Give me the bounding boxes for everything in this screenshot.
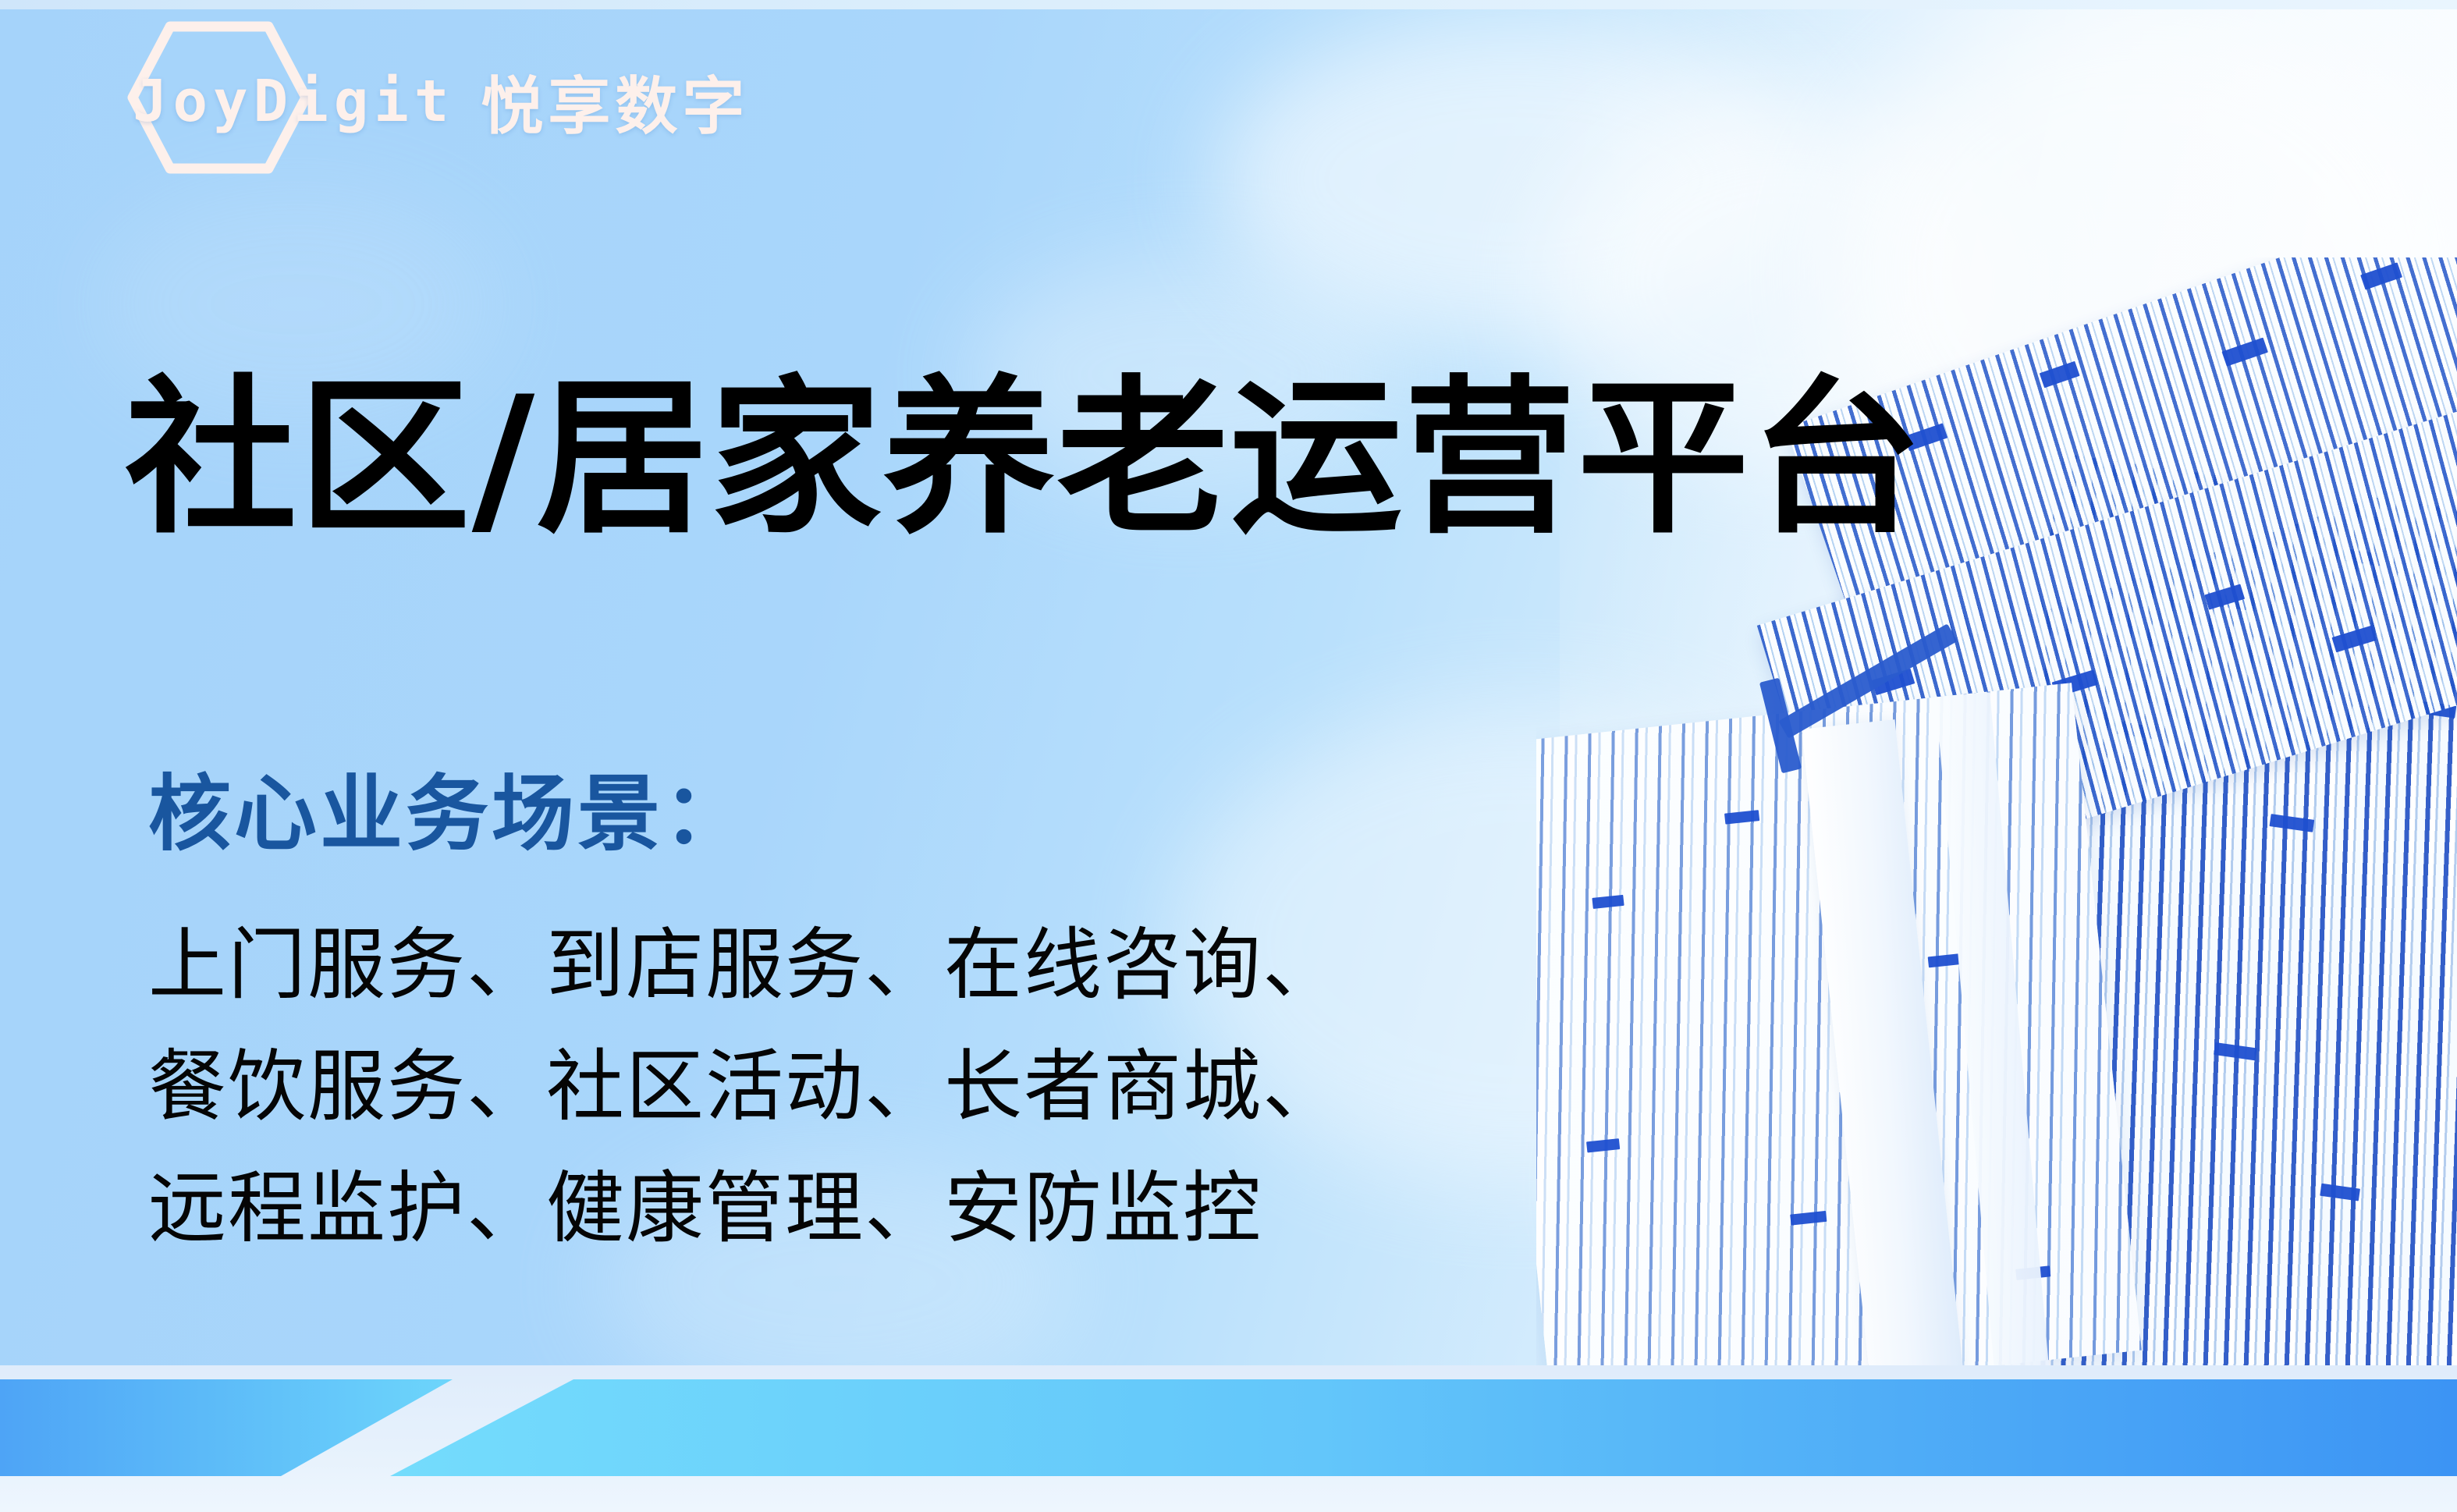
page-title: 社区/居家养老运营平台 [125,374,1924,543]
logo-wordmark-cn: 悦享数字 [481,56,749,147]
brand-logo: JoyDigit 悦享数字 [131,55,749,148]
scenario-line: 远程监护、健康管理、安防监控 [148,1148,1342,1269]
scenario-list: 上门服务、到店服务、在线咨询、 餐饮服务、社区活动、长者商城、 远程监护、健康管… [148,904,1342,1269]
bottom-ribbon-band [0,1365,2457,1512]
logo-wordmark: JoyDigit [133,68,454,135]
section-subheading: 核心业务场景： [148,765,1342,864]
top-accent-strip [0,0,2457,9]
slide-canvas: JoyDigit 悦享数字 社区/居家养老运营平台 核心业务场景： 上门服务、到… [0,0,2457,1512]
scenario-line: 餐饮服务、社区活动、长者商城、 [148,1026,1342,1148]
scenario-line: 上门服务、到店服务、在线咨询、 [148,904,1342,1026]
content-block: 核心业务场景： 上门服务、到店服务、在线咨询、 餐饮服务、社区活动、长者商城、 … [148,765,1342,1269]
